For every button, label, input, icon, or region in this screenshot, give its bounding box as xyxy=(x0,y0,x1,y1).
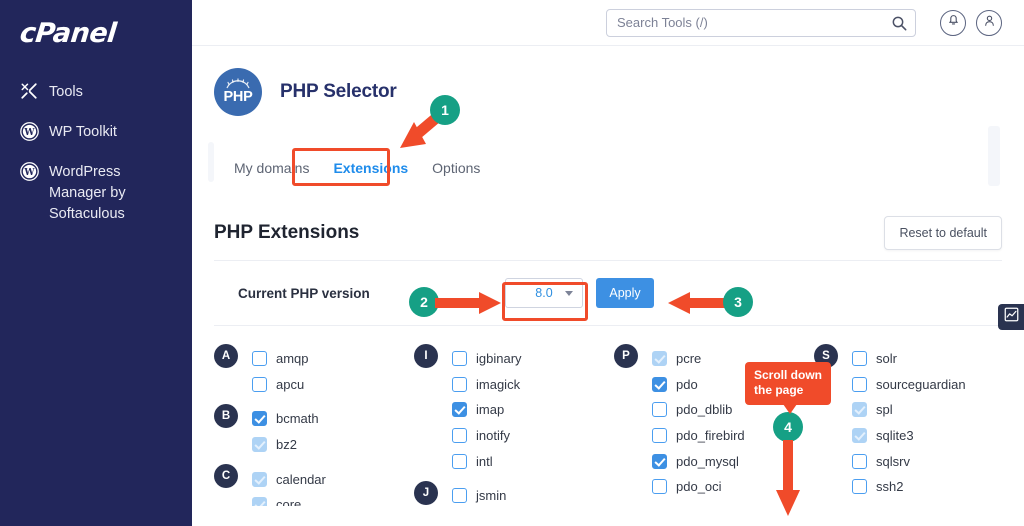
extension-item[interactable]: pdo_oci xyxy=(652,474,745,500)
extension-group-letter: P xyxy=(614,344,638,368)
php-version-value: 8.0 xyxy=(535,286,552,300)
extension-item[interactable]: spl xyxy=(852,397,966,423)
brand[interactable]: cPanel xyxy=(0,0,192,62)
php-version-row: Current PHP version 8.0 Apply xyxy=(192,261,1024,325)
search-container xyxy=(606,9,916,37)
page-header: PHP PHP Selector xyxy=(192,46,1024,116)
bell-icon xyxy=(947,14,960,32)
extension-group-letter: B xyxy=(214,404,238,428)
extension-item[interactable]: core xyxy=(252,492,326,506)
extension-label: igbinary xyxy=(476,351,522,366)
extension-item[interactable]: amqp xyxy=(252,346,309,372)
extension-column: AamqpapcuBbcmathbz2Ccalendarcore xyxy=(214,344,414,506)
extension-group-items: igbinaryimagickimapinotifyintl xyxy=(452,344,522,474)
extension-label: sqlite3 xyxy=(876,428,914,443)
extension-item[interactable]: inotify xyxy=(452,423,522,449)
extension-group-items: solrsourceguardiansplsqlite3sqlsrvssh2 xyxy=(852,344,966,500)
chart-icon xyxy=(1004,307,1019,327)
extension-group: Jjsmin xyxy=(414,481,614,506)
sidebar-item-label: WordPress Manager by Softaculous xyxy=(49,161,178,225)
extension-label: imagick xyxy=(476,377,520,392)
tab-bar: My domains Extensions Options xyxy=(192,148,1024,188)
sidebar-item-wp-toolkit[interactable]: W WP Toolkit xyxy=(0,112,192,152)
extension-group-items: jsmin xyxy=(452,481,506,506)
extension-item[interactable]: bz2 xyxy=(252,432,319,458)
extension-checkbox xyxy=(852,402,867,417)
extension-label: ssh2 xyxy=(876,479,903,494)
tab-options[interactable]: Options xyxy=(420,153,492,183)
extension-group: Ccalendarcore xyxy=(214,464,414,506)
top-bar xyxy=(192,0,1024,46)
extension-column: IigbinaryimagickimapinotifyintlJjsmin xyxy=(414,344,614,506)
extension-checkbox[interactable] xyxy=(252,377,267,392)
extension-label: bz2 xyxy=(276,437,297,452)
extension-group-items: pcrepdopdo_dblibpdo_firebirdpdo_mysqlpdo… xyxy=(652,344,745,500)
extension-checkbox xyxy=(252,472,267,487)
extension-checkbox[interactable] xyxy=(852,454,867,469)
apply-button[interactable]: Apply xyxy=(596,278,654,308)
extension-item[interactable]: pdo_firebird xyxy=(652,423,745,449)
section-title: PHP Extensions xyxy=(214,222,359,244)
extension-group-letter: C xyxy=(214,464,238,488)
extension-item[interactable]: pdo_dblib xyxy=(652,397,745,423)
extension-item[interactable]: bcmath xyxy=(252,406,319,432)
tools-icon xyxy=(18,81,40,101)
cpanel-logo: cPanel xyxy=(18,18,193,49)
extension-label: apcu xyxy=(276,377,304,392)
tab-my-domains[interactable]: My domains xyxy=(222,153,321,183)
extension-label: inotify xyxy=(476,428,510,443)
extension-group-letter: I xyxy=(414,344,438,368)
wordpress-icon: W xyxy=(18,161,40,181)
sidebar-item-tools[interactable]: Tools xyxy=(0,72,192,112)
extension-label: jsmin xyxy=(476,488,506,503)
extension-group: Aamqpapcu xyxy=(214,344,414,397)
section-header: PHP Extensions Reset to default xyxy=(192,210,1024,256)
extension-item[interactable]: ssh2 xyxy=(852,474,966,500)
php-logo-icon: PHP xyxy=(214,68,262,116)
extension-item[interactable]: sqlsrv xyxy=(852,448,966,474)
notifications-button[interactable] xyxy=(940,10,966,36)
extension-checkbox[interactable] xyxy=(652,402,667,417)
extension-label: core xyxy=(276,497,301,506)
extension-checkbox[interactable] xyxy=(452,351,467,366)
extension-label: pdo_firebird xyxy=(676,428,745,443)
extension-label: calendar xyxy=(276,472,326,487)
tab-scroll-left-stub xyxy=(208,142,214,182)
page-title: PHP Selector xyxy=(280,81,397,103)
extension-checkbox xyxy=(252,497,267,506)
extension-item[interactable]: imagick xyxy=(452,372,522,398)
extension-checkbox xyxy=(852,428,867,443)
user-icon xyxy=(983,14,996,32)
extension-group-items: bcmathbz2 xyxy=(252,404,319,457)
extension-checkbox[interactable] xyxy=(252,411,267,426)
extension-label: pdo_mysql xyxy=(676,454,739,469)
extension-checkbox[interactable] xyxy=(452,454,467,469)
extension-label: imap xyxy=(476,402,504,417)
extension-checkbox[interactable] xyxy=(252,351,267,366)
extension-item[interactable]: igbinary xyxy=(452,346,522,372)
floating-stats-tab[interactable] xyxy=(998,304,1024,330)
main-area: PHP PHP Selector My domains Extensions O… xyxy=(192,0,1024,526)
extension-group-letter: J xyxy=(414,481,438,505)
extension-label: solr xyxy=(876,351,897,366)
sidebar-item-wordpress-manager[interactable]: W WordPress Manager by Softaculous xyxy=(0,152,192,234)
extensions-grid: AamqpapcuBbcmathbz2CcalendarcoreIigbinar… xyxy=(192,326,1024,506)
extension-checkbox xyxy=(252,437,267,452)
extension-item[interactable]: intl xyxy=(452,448,522,474)
extension-checkbox[interactable] xyxy=(852,377,867,392)
extension-group-items: amqpapcu xyxy=(252,344,309,397)
sidebar-item-label: WP Toolkit xyxy=(49,121,117,143)
extension-checkbox[interactable] xyxy=(652,428,667,443)
extension-checkbox[interactable] xyxy=(852,351,867,366)
php-version-label: Current PHP version xyxy=(238,286,370,301)
search-input[interactable] xyxy=(606,9,916,37)
extension-checkbox xyxy=(652,351,667,366)
extension-item[interactable]: solr xyxy=(852,346,966,372)
extension-label: sqlsrv xyxy=(876,454,910,469)
extension-item[interactable]: pdo_mysql xyxy=(652,448,745,474)
tab-scroll-right-stub[interactable] xyxy=(988,126,1000,186)
svg-text:W: W xyxy=(23,167,35,178)
chevron-down-icon xyxy=(565,291,573,296)
extension-item[interactable]: pdo xyxy=(652,372,745,398)
extension-checkbox[interactable] xyxy=(452,377,467,392)
extension-item[interactable]: imap xyxy=(452,397,522,423)
extension-checkbox[interactable] xyxy=(452,402,467,417)
extension-item[interactable]: apcu xyxy=(252,372,309,398)
extension-label: pdo xyxy=(676,377,698,392)
extension-item[interactable]: calendar xyxy=(252,466,326,492)
extension-label: sourceguardian xyxy=(876,377,966,392)
account-button[interactable] xyxy=(976,10,1002,36)
extension-item[interactable]: pcre xyxy=(652,346,745,372)
extension-label: pdo_oci xyxy=(676,479,722,494)
extension-label: amqp xyxy=(276,351,309,366)
extension-item[interactable]: jsmin xyxy=(452,483,506,506)
sidebar-nav: Tools W WP Toolkit W xyxy=(0,62,192,234)
svg-text:W: W xyxy=(23,127,35,138)
extension-checkbox[interactable] xyxy=(652,454,667,469)
extension-checkbox[interactable] xyxy=(652,479,667,494)
extension-checkbox[interactable] xyxy=(652,377,667,392)
extension-label: intl xyxy=(476,454,493,469)
cpanel-php-selector-page: cPanel Tools xyxy=(0,0,1024,526)
extension-group: Ssolrsourceguardiansplsqlite3sqlsrvssh2 xyxy=(814,344,1014,500)
annotation-tooltip-scroll-down: Scroll down the page xyxy=(745,362,831,405)
extension-column: Ssolrsourceguardiansplsqlite3sqlsrvssh2 xyxy=(814,344,1014,506)
sidebar-item-label: Tools xyxy=(49,81,83,103)
extension-label: pdo_dblib xyxy=(676,402,732,417)
extension-checkbox[interactable] xyxy=(452,488,467,503)
extension-group-letter: A xyxy=(214,344,238,368)
extension-item[interactable]: sqlite3 xyxy=(852,423,966,449)
sidebar: cPanel Tools xyxy=(0,0,192,526)
extension-label: pcre xyxy=(676,351,701,366)
extension-label: spl xyxy=(876,402,893,417)
php-version-select[interactable]: 8.0 xyxy=(505,278,583,308)
extension-group-items: calendarcore xyxy=(252,464,326,506)
extension-checkbox[interactable] xyxy=(852,479,867,494)
reset-to-default-button[interactable]: Reset to default xyxy=(884,216,1002,250)
extension-item[interactable]: sourceguardian xyxy=(852,372,966,398)
page-content: PHP PHP Selector My domains Extensions O… xyxy=(192,46,1024,506)
php-logo-text: PHP xyxy=(224,89,253,105)
extension-label: bcmath xyxy=(276,411,319,426)
extension-group: Iigbinaryimagickimapinotifyintl xyxy=(414,344,614,474)
extension-group: Bbcmathbz2 xyxy=(214,404,414,457)
tab-extensions[interactable]: Extensions xyxy=(321,153,420,183)
extension-checkbox[interactable] xyxy=(452,428,467,443)
wordpress-icon: W xyxy=(18,121,40,141)
